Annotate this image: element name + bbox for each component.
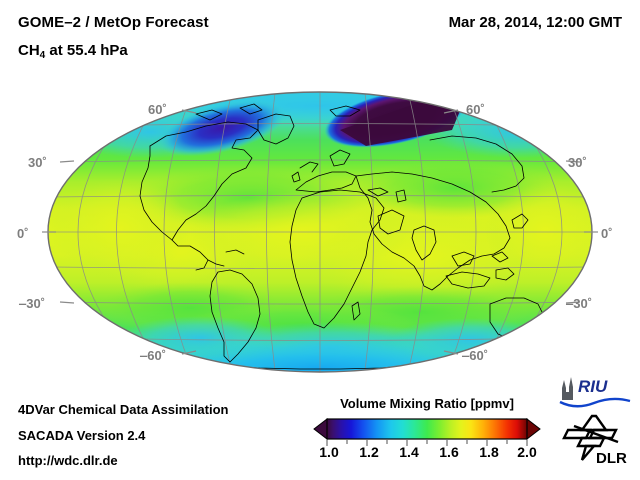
colorbar-tick-label-4: 1.6	[439, 444, 458, 460]
page-title: GOME–2 / MetOp Forecast	[18, 14, 209, 31]
subtitle-subscript: 4	[40, 50, 46, 61]
subtitle-species: CH	[18, 42, 40, 59]
subtitle-level: at 55.4 hPa	[45, 42, 128, 59]
lat-label-right-30: 30˚	[568, 155, 587, 170]
colorbar-title: Volume Mixing Ratio [ppmv]	[313, 396, 541, 411]
lat-label-right-m30: ‒30˚	[566, 296, 592, 311]
lat-label-left-m30: ‒30˚	[19, 296, 45, 311]
colorbar-under-arrow	[314, 419, 327, 439]
colorbar-tick-label-3: 1.4	[399, 444, 418, 460]
dlr-logo: DLR	[562, 414, 630, 466]
riu-logo: RIU	[556, 374, 634, 410]
footer-url-link[interactable]: http://wdc.dlr.de	[18, 453, 118, 468]
colorbar-tick-label-1: 1.0	[319, 444, 338, 460]
lat-label-left-60: 60˚	[148, 102, 167, 117]
colorbar-tick-label-5: 1.8	[479, 444, 498, 460]
colorbar-tick-label-6: 2.0	[517, 444, 536, 460]
colorbar: Volume Mixing Ratio [ppmv]	[313, 396, 541, 474]
colorbar-gradient	[327, 419, 527, 439]
riu-wordmark: RIU	[578, 377, 608, 396]
cathedral-icon	[562, 377, 573, 400]
footer-assimilation-line: 4DVar Chemical Data Assimilation	[18, 402, 229, 417]
lat-label-left-30: 30˚	[28, 155, 47, 170]
lat-label-left-m60: ‒60˚	[140, 348, 166, 363]
map-svg	[0, 80, 640, 385]
footer-version-line: SACADA Version 2.4	[18, 428, 145, 443]
wave-icon	[560, 399, 630, 406]
world-map-panel: 60˚ 30˚ 0˚ ‒30˚ ‒60˚ 60˚ 30˚ 0˚ ‒30˚ ‒60…	[0, 80, 640, 385]
page-subtitle: CH4 at 55.4 hPa	[18, 42, 128, 59]
dlr-wordmark: DLR	[596, 450, 627, 466]
timestamp: Mar 28, 2014, 12:00 GMT	[449, 14, 622, 31]
lat-label-right-0: 0˚	[601, 226, 613, 241]
lat-label-right-m60: ‒60˚	[462, 348, 488, 363]
colorbar-over-arrow	[527, 419, 540, 439]
colorbar-tick-label-2: 1.2	[359, 444, 378, 460]
colorbar-graphic	[313, 417, 541, 441]
lat-label-right-60: 60˚	[466, 102, 485, 117]
lat-label-left-0: 0˚	[17, 226, 29, 241]
ch4-field	[48, 80, 615, 385]
